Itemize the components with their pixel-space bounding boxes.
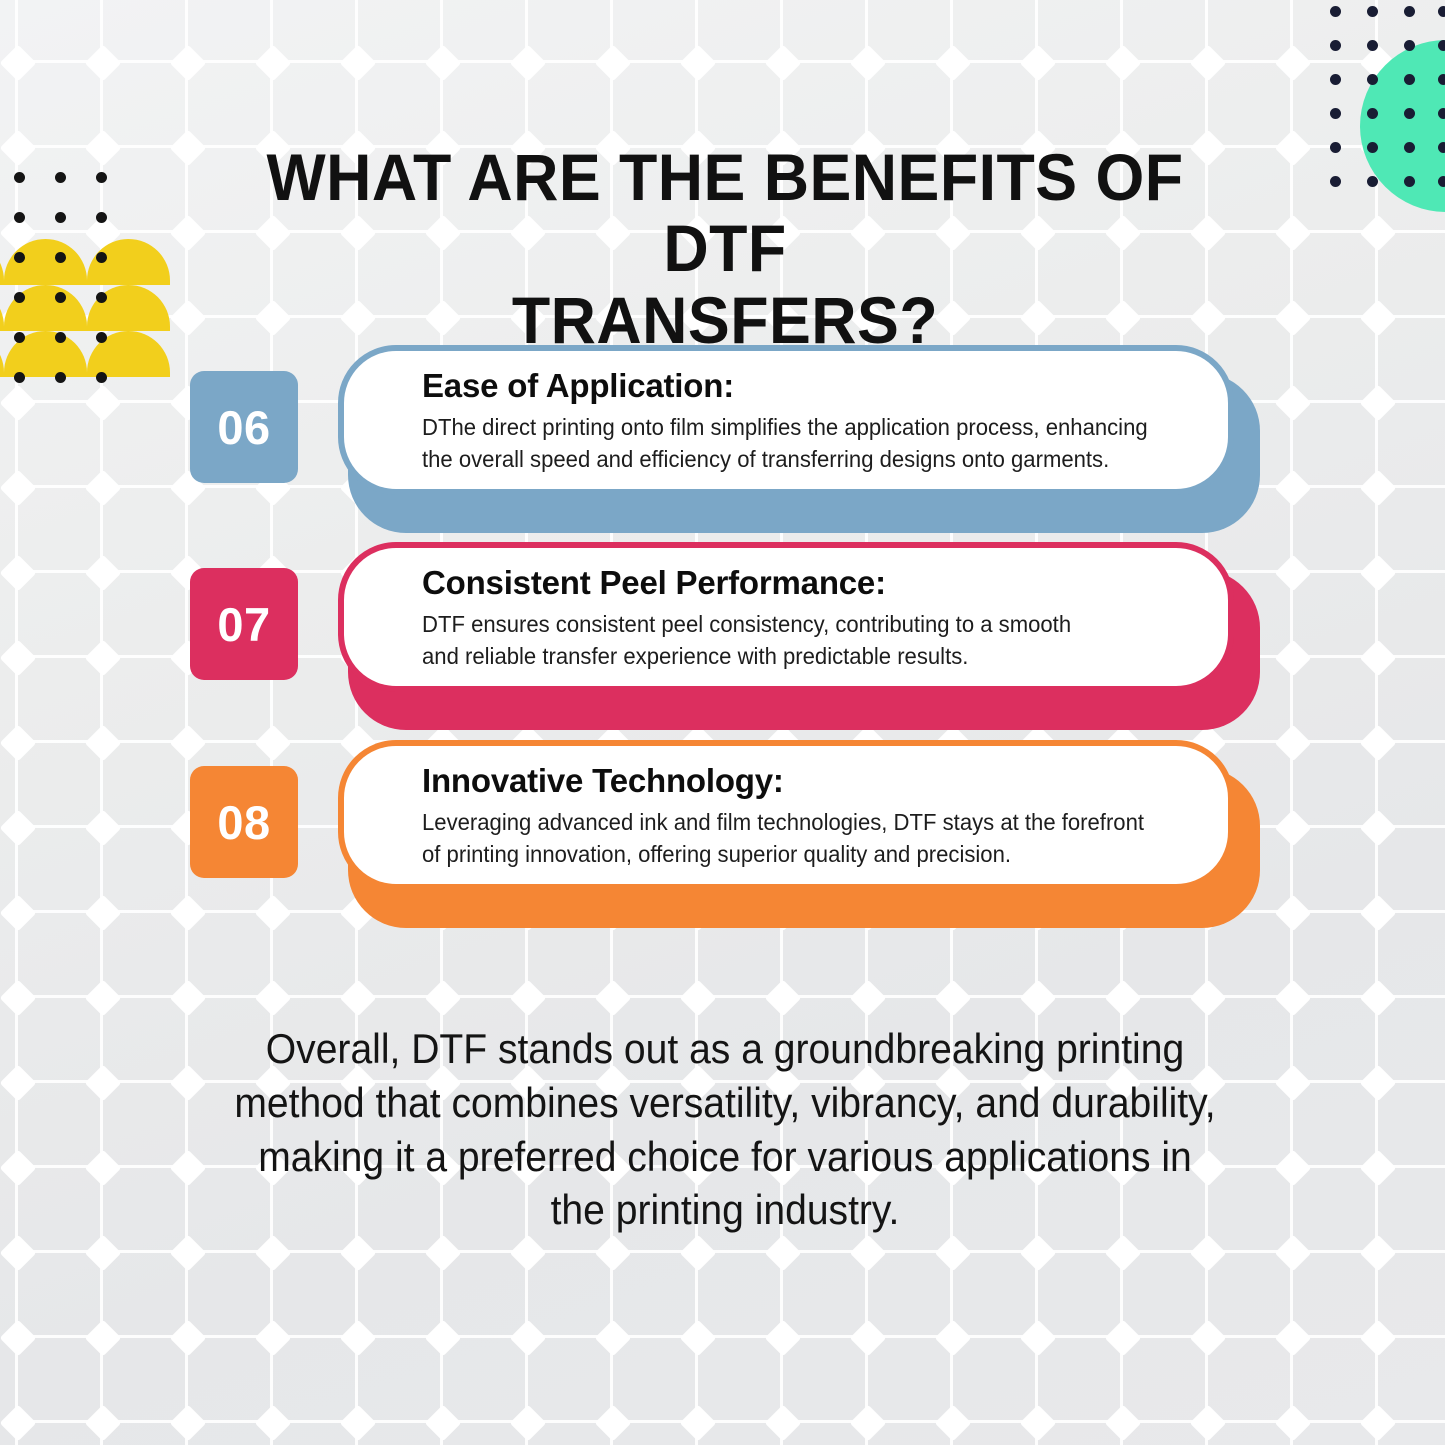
grid-diamond	[1275, 895, 1312, 932]
decor-dot	[1438, 74, 1445, 85]
grid-diamond	[170, 130, 207, 167]
grid-diamond	[0, 45, 36, 82]
decor-dot	[1330, 40, 1341, 51]
grid-diamond	[935, 1320, 972, 1357]
grid-diamond	[85, 640, 122, 677]
decor-dot	[96, 172, 107, 183]
grid-diamond	[1360, 1150, 1397, 1187]
grid-diamond	[510, 980, 547, 1017]
grid-diamond	[1105, 45, 1142, 82]
grid-diamond	[0, 555, 36, 592]
benefit-desc-06-line-1: DThe direct printing onto film simplifie…	[422, 412, 1151, 443]
grid-diamond	[340, 1320, 377, 1357]
benefit-desc-07-line-1: DTF ensures consistent peel consistency,…	[422, 609, 1151, 640]
decor-dot	[1330, 74, 1341, 85]
grid-diamond	[170, 1405, 207, 1442]
grid-diamond	[510, 1405, 547, 1442]
decor-dot	[1404, 108, 1415, 119]
grid-diamond	[680, 1235, 717, 1272]
grid-diamond	[0, 1405, 36, 1442]
decor-dot	[1404, 40, 1415, 51]
grid-diamond	[850, 980, 887, 1017]
grid-diamond	[850, 1405, 887, 1442]
grid-diamond	[85, 1235, 122, 1272]
summary-line-1: Overall, DTF stands out as a groundbreak…	[214, 1022, 1237, 1076]
benefit-desc-07-line-2: and reliable transfer experience with pr…	[422, 641, 1151, 672]
decor-dot	[1438, 40, 1445, 51]
grid-diamond	[1275, 45, 1312, 82]
decor-dot	[1330, 108, 1341, 119]
grid-diamond	[1275, 1235, 1312, 1272]
grid-diamond	[0, 385, 36, 422]
decor-dot	[1330, 142, 1341, 153]
grid-diamond	[1275, 385, 1312, 422]
decor-dot	[14, 332, 25, 343]
grid-diamond	[170, 45, 207, 82]
benefit-card-08[interactable]: Innovative Technology: Leveraging advanc…	[338, 740, 1234, 890]
grid-diamond	[1360, 300, 1397, 337]
decor-dot	[1404, 176, 1415, 187]
grid-diamond	[1190, 980, 1227, 1017]
decor-dot	[55, 212, 66, 223]
grid-diamond	[1360, 810, 1397, 847]
grid-diamond	[1190, 1320, 1227, 1357]
grid-diamond	[85, 980, 122, 1017]
grid-diamond	[765, 1320, 802, 1357]
grid-diamond	[765, 1235, 802, 1272]
grid-diamond	[170, 1320, 207, 1357]
grid-diamond	[0, 1320, 36, 1357]
grid-diamond	[1020, 1405, 1057, 1442]
grid-diamond	[0, 1235, 36, 1272]
grid-diamond	[595, 1235, 632, 1272]
grid-diamond	[595, 45, 632, 82]
page-title: WHAT ARE THE BENEFITS OF DTF TRANSFERS?	[217, 142, 1234, 356]
grid-diamond	[0, 980, 36, 1017]
grid-diamond	[0, 640, 36, 677]
page-title-line-1: WHAT ARE THE BENEFITS OF DTF	[217, 142, 1234, 285]
benefit-title-07: Consistent Peel Performance:	[422, 565, 1198, 601]
benefit-number-badge-07[interactable]: 07	[190, 568, 298, 680]
grid-diamond	[680, 980, 717, 1017]
decor-dot	[55, 292, 66, 303]
grid-diamond	[850, 1320, 887, 1357]
grid-diamond	[340, 45, 377, 82]
infographic-poster: WHAT ARE THE BENEFITS OF DTF TRANSFERS? …	[0, 0, 1445, 1445]
grid-diamond	[170, 980, 207, 1017]
grid-diamond	[85, 1150, 122, 1187]
grid-diamond	[0, 470, 36, 507]
decor-dot	[14, 372, 25, 383]
grid-diamond	[1360, 555, 1397, 592]
grid-diamond	[935, 980, 972, 1017]
grid-diamond	[85, 470, 122, 507]
decor-dot	[14, 292, 25, 303]
decor-dot	[1404, 74, 1415, 85]
benefit-title-08: Innovative Technology:	[422, 763, 1198, 799]
grid-diamond	[425, 1405, 462, 1442]
grid-diamond	[1360, 980, 1397, 1017]
benefit-number-06: 06	[217, 400, 270, 455]
grid-diamond	[85, 895, 122, 932]
grid-diamond	[510, 1320, 547, 1357]
grid-diamond	[1360, 470, 1397, 507]
decor-dot	[1367, 108, 1378, 119]
grid-diamond	[170, 1235, 207, 1272]
grid-diamond	[1360, 725, 1397, 762]
grid-diamond	[340, 980, 377, 1017]
benefit-number-badge-08[interactable]: 08	[190, 766, 298, 878]
decor-dot	[1367, 74, 1378, 85]
grid-diamond	[85, 1320, 122, 1357]
grid-diamond	[170, 300, 207, 337]
grid-diamond	[595, 1320, 632, 1357]
grid-diamond	[85, 45, 122, 82]
grid-diamond	[340, 1235, 377, 1272]
benefit-desc-06-line-2: the overall speed and efficiency of tran…	[422, 444, 1151, 475]
benefit-card-06[interactable]: Ease of Application: DThe direct printin…	[338, 345, 1234, 495]
grid-diamond	[1275, 555, 1312, 592]
grid-diamond	[1275, 1405, 1312, 1442]
grid-diamond	[1275, 300, 1312, 337]
grid-diamond	[1020, 45, 1057, 82]
grid-diamond	[1360, 385, 1397, 422]
grid-diamond	[1105, 1405, 1142, 1442]
decor-dot	[14, 252, 25, 263]
grid-diamond	[1275, 1320, 1312, 1357]
grid-diamond	[1275, 470, 1312, 507]
grid-diamond	[1275, 810, 1312, 847]
decor-dot	[1367, 176, 1378, 187]
benefit-number-08: 08	[217, 795, 270, 850]
grid-diamond	[510, 45, 547, 82]
grid-diamond	[595, 1405, 632, 1442]
grid-diamond	[340, 1405, 377, 1442]
decor-dot	[1330, 176, 1341, 187]
decor-dot	[55, 172, 66, 183]
decor-dot	[14, 172, 25, 183]
grid-diamond	[85, 130, 122, 167]
decor-dot	[14, 212, 25, 223]
decor-dot	[1367, 142, 1378, 153]
grid-diamond	[1275, 130, 1312, 167]
grid-diamond	[680, 45, 717, 82]
benefit-number-badge-06[interactable]: 06	[190, 371, 298, 483]
grid-diamond	[0, 895, 36, 932]
grid-diamond	[255, 1320, 292, 1357]
grid-diamond	[1360, 1405, 1397, 1442]
grid-diamond	[1275, 1065, 1312, 1102]
grid-diamond	[170, 215, 207, 252]
grid-diamond	[425, 45, 462, 82]
grid-diamond	[170, 725, 207, 762]
decor-dot	[96, 332, 107, 343]
decor-dot	[1367, 6, 1378, 17]
summary-line-2: method that combines versatility, vibran…	[214, 1076, 1237, 1130]
grid-diamond	[765, 1405, 802, 1442]
grid-diamond	[85, 810, 122, 847]
grid-diamond	[1105, 1320, 1142, 1357]
grid-diamond	[850, 45, 887, 82]
decor-dot	[96, 372, 107, 383]
grid-diamond	[425, 980, 462, 1017]
grid-diamond	[255, 725, 292, 762]
decor-dot	[55, 332, 66, 343]
grid-diamond	[255, 1235, 292, 1272]
grid-diamond	[1275, 640, 1312, 677]
grid-diamond	[1275, 980, 1312, 1017]
grid-diamond	[1360, 1235, 1397, 1272]
grid-diamond	[1190, 1405, 1227, 1442]
grid-diamond	[255, 895, 292, 932]
grid-diamond	[850, 1235, 887, 1272]
grid-diamond	[0, 1065, 36, 1102]
benefit-card-07[interactable]: Consistent Peel Performance: DTF ensures…	[338, 542, 1234, 692]
grid-diamond	[1275, 215, 1312, 252]
grid-diamond	[170, 895, 207, 932]
decor-dot	[96, 252, 107, 263]
grid-diamond	[595, 980, 632, 1017]
grid-diamond	[765, 980, 802, 1017]
grid-diamond	[1360, 640, 1397, 677]
decor-dot	[96, 292, 107, 303]
grid-diamond	[425, 1320, 462, 1357]
decor-dot	[1438, 6, 1445, 17]
benefit-title-06: Ease of Application:	[422, 368, 1198, 404]
decor-dot	[1438, 108, 1445, 119]
grid-diamond	[935, 1405, 972, 1442]
grid-diamond	[1275, 1150, 1312, 1187]
benefit-number-07: 07	[217, 597, 270, 652]
decor-dot	[1438, 142, 1445, 153]
decor-dot	[55, 372, 66, 383]
grid-diamond	[255, 1405, 292, 1442]
grid-diamond	[1360, 1320, 1397, 1357]
grid-diamond	[85, 555, 122, 592]
grid-diamond	[680, 1405, 717, 1442]
grid-diamond	[1360, 1065, 1397, 1102]
grid-diamond	[1105, 980, 1142, 1017]
grid-diamond	[85, 1405, 122, 1442]
grid-diamond	[1190, 1235, 1227, 1272]
grid-diamond	[765, 45, 802, 82]
grid-diamond	[85, 385, 122, 422]
grid-diamond	[170, 1150, 207, 1187]
grid-diamond	[170, 1065, 207, 1102]
benefit-desc-08-line-1: Leveraging advanced ink and film technol…	[422, 807, 1151, 838]
summary-line-4: the printing industry.	[214, 1183, 1237, 1237]
decor-dot	[1330, 6, 1341, 17]
benefit-desc-08-line-2: of printing innovation, offering superio…	[422, 839, 1151, 870]
decor-dot	[1404, 142, 1415, 153]
decor-dot	[1404, 6, 1415, 17]
grid-diamond	[255, 45, 292, 82]
benefit-desc-07: DTF ensures consistent peel consistency,…	[422, 609, 1151, 672]
grid-diamond	[1020, 1320, 1057, 1357]
benefit-desc-08: Leveraging advanced ink and film technol…	[422, 807, 1151, 870]
grid-diamond	[935, 1235, 972, 1272]
benefit-desc-06: DThe direct printing onto film simplifie…	[422, 412, 1151, 475]
decor-dot	[55, 252, 66, 263]
grid-diamond	[0, 810, 36, 847]
decor-dot	[1438, 176, 1445, 187]
grid-diamond	[1360, 895, 1397, 932]
grid-diamond	[0, 1150, 36, 1187]
decor-dot	[1367, 40, 1378, 51]
grid-diamond	[680, 1320, 717, 1357]
grid-diamond	[1105, 1235, 1142, 1272]
grid-diamond	[1190, 45, 1227, 82]
grid-diamond	[1020, 980, 1057, 1017]
grid-diamond	[0, 130, 36, 167]
grid-diamond	[1020, 1235, 1057, 1272]
grid-diamond	[935, 45, 972, 82]
grid-diamond	[0, 725, 36, 762]
grid-diamond	[85, 725, 122, 762]
grid-diamond	[1275, 725, 1312, 762]
grid-diamond	[85, 1065, 122, 1102]
decor-dot	[96, 212, 107, 223]
summary-line-3: making it a preferred choice for various…	[214, 1130, 1237, 1184]
grid-diamond	[255, 980, 292, 1017]
grid-diamond	[1360, 215, 1397, 252]
summary-paragraph: Overall, DTF stands out as a groundbreak…	[214, 1022, 1237, 1237]
grid-diamond	[510, 1235, 547, 1272]
grid-diamond	[425, 1235, 462, 1272]
